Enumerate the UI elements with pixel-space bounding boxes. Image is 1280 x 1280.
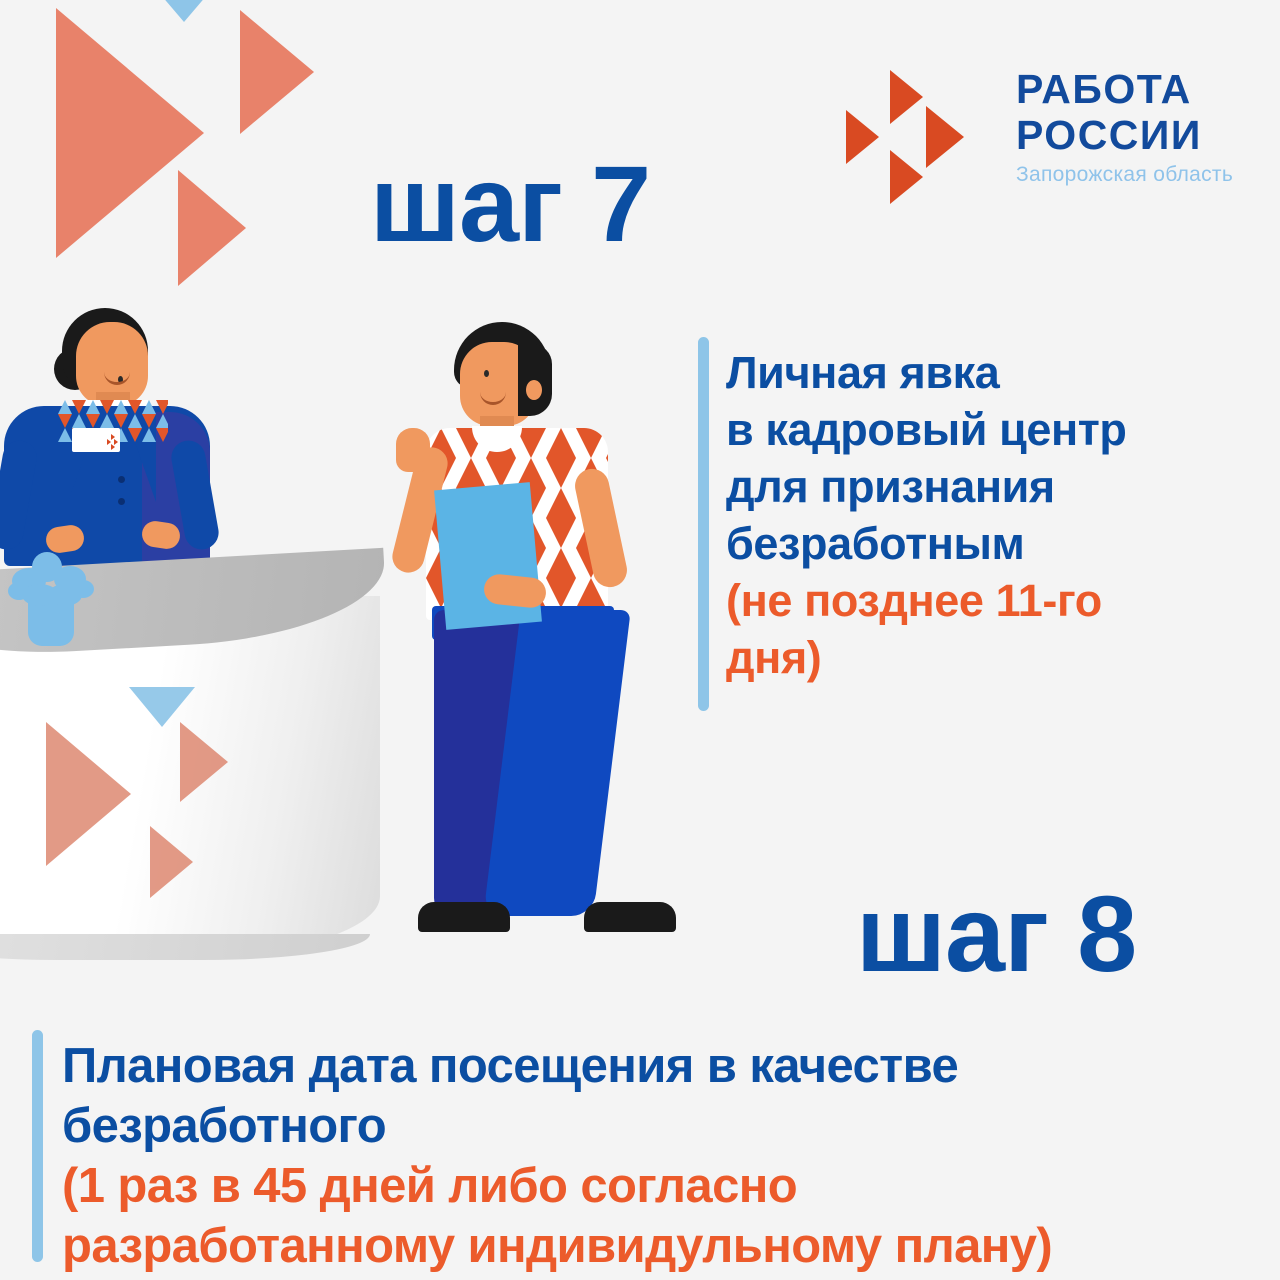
scarf-pattern-triangle: [156, 428, 168, 442]
scarf-pattern-triangle: [128, 428, 142, 442]
counter-triangle-salmon-right: [180, 722, 228, 802]
step-8-accent-bar: [32, 1030, 43, 1262]
tshirt-pattern-triangle: [546, 458, 576, 488]
scarf-pattern-triangle: [72, 414, 86, 428]
tshirt-pattern-triangle: [576, 428, 606, 458]
decorative-triangle-cluster-top: [0, 0, 360, 330]
counter-triangle-blue: [129, 687, 195, 727]
scarf-pattern-triangle: [100, 400, 114, 414]
tshirt-pattern-triangle: [456, 458, 486, 488]
brand-name-line-2: РОССИИ: [1016, 112, 1236, 158]
scarf-pattern-triangle: [156, 414, 168, 428]
tshirt-pattern-triangle: [606, 428, 608, 458]
potted-plant-illustration: [2, 538, 102, 648]
male-visitor-illustration: [398, 318, 678, 938]
logo-triangle-top: [890, 70, 923, 124]
scarf-pattern-triangle: [100, 414, 114, 428]
scarf-pattern-triangle: [58, 400, 72, 414]
visitor-shoe-left: [418, 902, 510, 932]
tshirt-pattern-triangle: [546, 488, 576, 518]
triangle-salmon-upper-right: [240, 10, 314, 134]
step-7-accent-bar: [698, 337, 709, 711]
consultant-jacket-button-1: [118, 476, 125, 483]
step-7-line-6: дня): [726, 629, 1246, 686]
scarf-pattern-triangle: [114, 400, 128, 414]
step-7-heading: шаг 7: [370, 150, 650, 258]
logo-triangle-left: [846, 110, 879, 164]
step-7-line-4: безработным: [726, 515, 1246, 572]
badge-logo-icon: [108, 435, 119, 446]
tshirt-pattern-triangle: [546, 548, 576, 578]
consultant-jacket-button-2: [118, 498, 125, 505]
step-8-heading: шаг 8: [856, 880, 1136, 988]
plant-leaf: [8, 582, 30, 600]
scarf-pattern-triangle: [156, 400, 168, 414]
logo-triangle-bottom: [890, 150, 923, 204]
brand-name-line-1: РАБОТА: [1016, 66, 1236, 112]
decorative-triangle-cluster-counter: [40, 700, 270, 950]
step-7-line-5: (не позднее 11-го: [726, 572, 1246, 629]
scarf-pattern-triangle: [114, 414, 128, 428]
scarf-pattern-triangle: [142, 400, 156, 414]
step-8-line-2: безработного: [62, 1096, 1252, 1156]
step-7-text-block: Личная явка в кадровый центр для признан…: [726, 344, 1246, 686]
step-8-text-block: Плановая дата посещения в качестве безра…: [62, 1036, 1252, 1276]
scarf-pattern-triangle: [142, 428, 156, 442]
visitor-document-folder: [434, 482, 542, 630]
visitor-shoe-right: [584, 902, 676, 932]
brand-logo: РАБОТА РОССИИ Запорожская область: [848, 66, 1228, 226]
visitor-ear: [526, 380, 542, 400]
scarf-pattern-triangle: [142, 414, 156, 428]
logo-triangle-right: [926, 106, 964, 168]
counter-triangle-salmon-bottom: [150, 826, 193, 898]
step-8-line-3: (1 раз в 45 дней либо согласно: [62, 1156, 1252, 1216]
scarf-pattern-triangle: [86, 414, 100, 428]
scarf-pattern-triangle: [86, 400, 100, 414]
tshirt-pattern-triangle: [546, 578, 576, 608]
step-8-line-4: разработанному индивидульному плану): [62, 1216, 1252, 1276]
visitor-eye: [484, 370, 489, 377]
poster-canvas: РАБОТА РОССИИ Запорожская область шаг 7 …: [0, 0, 1280, 1280]
step-8-line-1: Плановая дата посещения в качестве: [62, 1036, 1252, 1096]
tshirt-pattern-triangle: [546, 428, 576, 458]
visitor-raised-hand: [396, 428, 430, 472]
scarf-pattern-triangle: [72, 400, 86, 414]
counter-triangle-salmon-large: [46, 722, 131, 866]
scarf-pattern-triangle: [58, 428, 72, 442]
scarf-pattern-triangle: [128, 400, 142, 414]
rabota-rossii-triangles-logo-icon: [848, 72, 998, 192]
scarf-pattern-triangle: [128, 414, 142, 428]
triangle-salmon-lower: [178, 170, 246, 286]
scarf-pattern-triangle: [58, 414, 72, 428]
brand-logo-text: РАБОТА РОССИИ Запорожская область: [1016, 66, 1236, 188]
step-7-line-3: для признания: [726, 458, 1246, 515]
step-7-line-1: Личная явка: [726, 344, 1246, 401]
tshirt-pattern-triangle: [546, 518, 576, 548]
plant-leaf: [72, 580, 94, 598]
brand-region-label: Запорожская область: [1016, 162, 1236, 188]
step-7-line-2: в кадровый центр: [726, 401, 1246, 458]
